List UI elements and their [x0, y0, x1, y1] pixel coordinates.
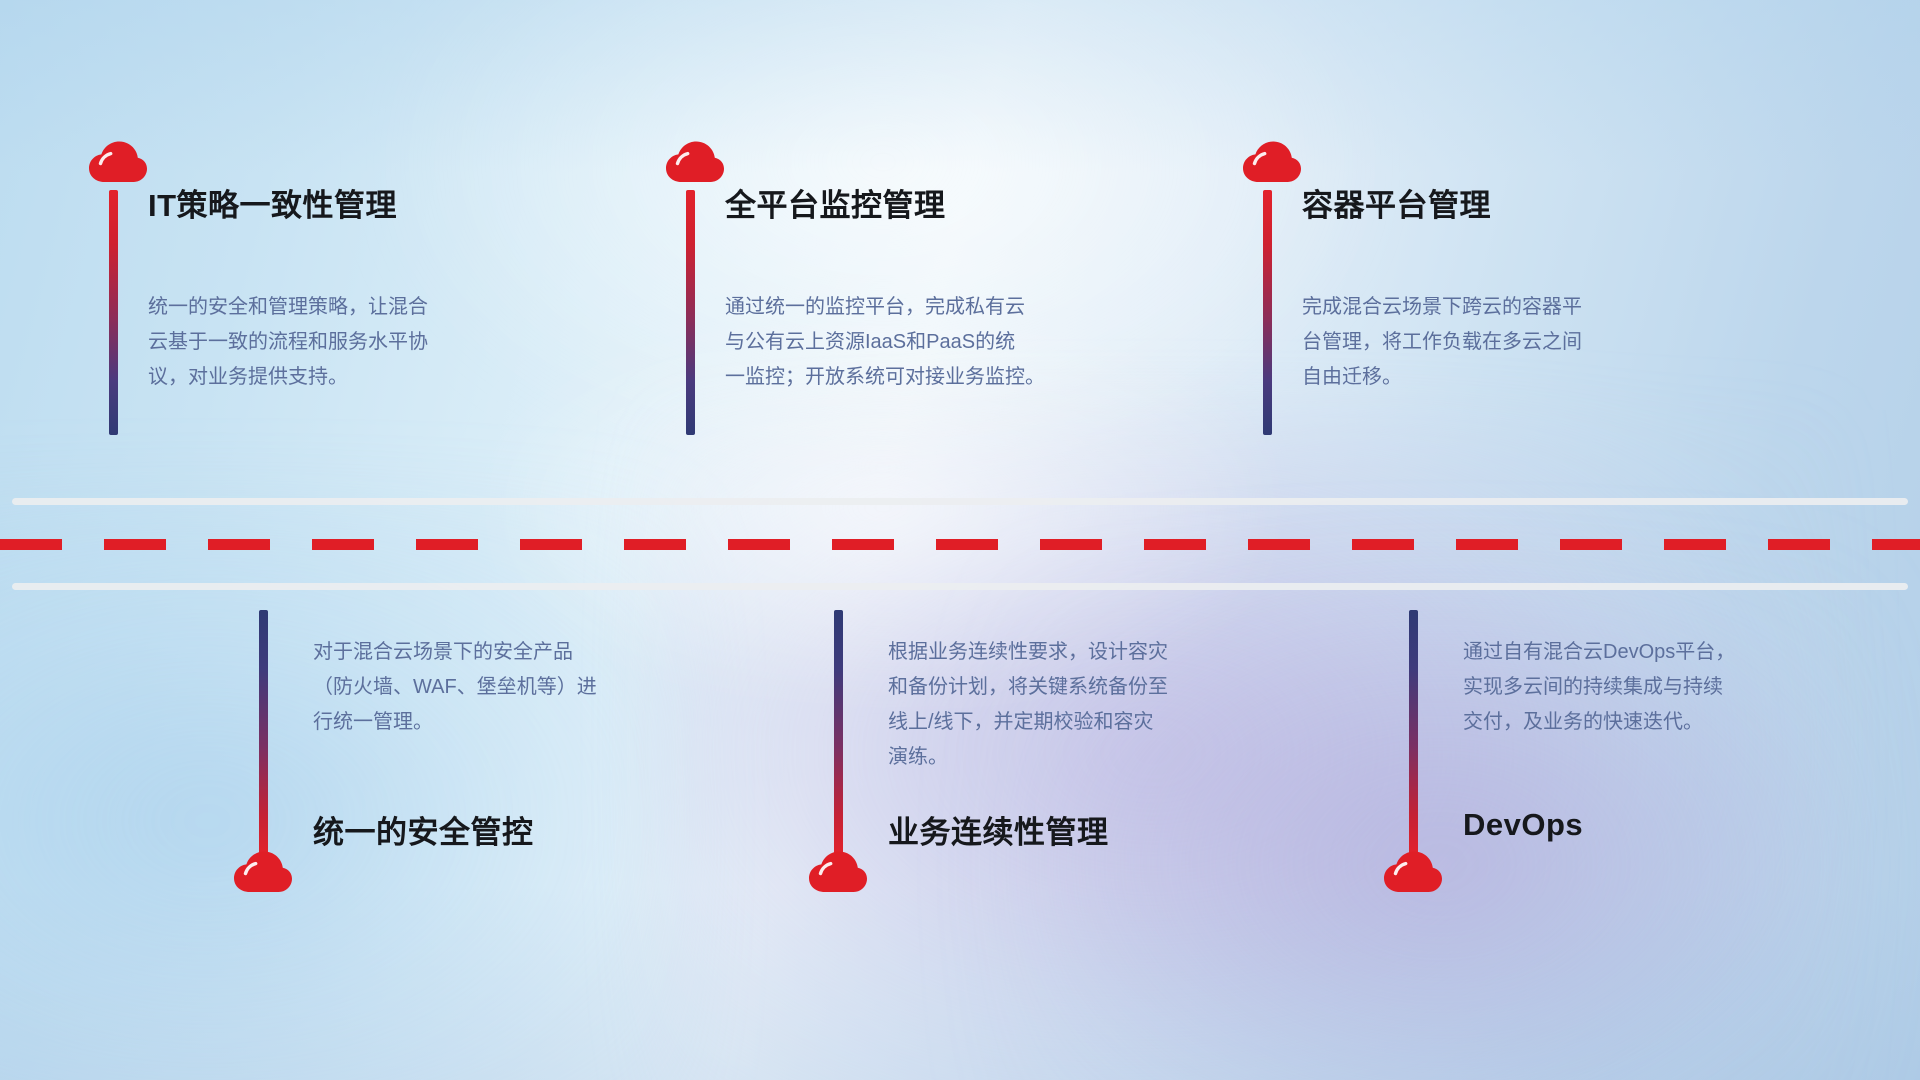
divider-line-top — [12, 498, 1908, 505]
card-body: 根据业务连续性要求，设计容灾 和备份计划，将关键系统备份至 线上/线下，并定期校… — [888, 635, 1268, 775]
card-heading: DevOps — [1463, 807, 1583, 843]
card-heading: 全平台监控管理 — [725, 180, 946, 225]
cloud-icon — [1382, 848, 1444, 894]
card-body: 通过统一的监控平台，完成私有云 与公有云上资源IaaS和PaaS的统 一监控；开… — [725, 290, 1101, 395]
cloud-icon — [664, 138, 726, 184]
cloud-icon — [807, 848, 869, 894]
cloud-icon — [232, 848, 294, 894]
divider-dashed-red — [0, 539, 1920, 550]
cloud-icon — [1241, 138, 1303, 184]
card-heading: 容器平台管理 — [1302, 180, 1491, 225]
cloud-icon — [87, 138, 149, 184]
divider-line-bottom — [12, 583, 1908, 590]
infographic-canvas: IT策略一致性管理 统一的安全和管理策略，让混合 云基于一致的流程和服务水平协 … — [0, 0, 1920, 1080]
card-body: 统一的安全和管理策略，让混合 云基于一致的流程和服务水平协 议，对业务提供支持。 — [148, 290, 508, 395]
accent-bar — [1409, 610, 1418, 855]
divider-band — [0, 498, 1920, 590]
card-heading: 统一的安全管控 — [313, 807, 534, 852]
accent-bar — [834, 610, 843, 855]
accent-bar — [686, 190, 695, 435]
accent-bar — [109, 190, 118, 435]
card-heading: IT策略一致性管理 — [148, 180, 397, 225]
card-body: 完成混合云场景下跨云的容器平 台管理，将工作负载在多云之间 自由迁移。 — [1302, 290, 1662, 395]
card-heading: 业务连续性管理 — [888, 807, 1109, 852]
accent-bar — [259, 610, 268, 855]
card-body: 通过自有混合云DevOps平台， 实现多云间的持续集成与持续 交付，及业务的快速… — [1463, 635, 1843, 740]
card-body: 对于混合云场景下的安全产品 （防火墙、WAF、堡垒机等）进 行统一管理。 — [313, 635, 693, 740]
accent-bar — [1263, 190, 1272, 435]
